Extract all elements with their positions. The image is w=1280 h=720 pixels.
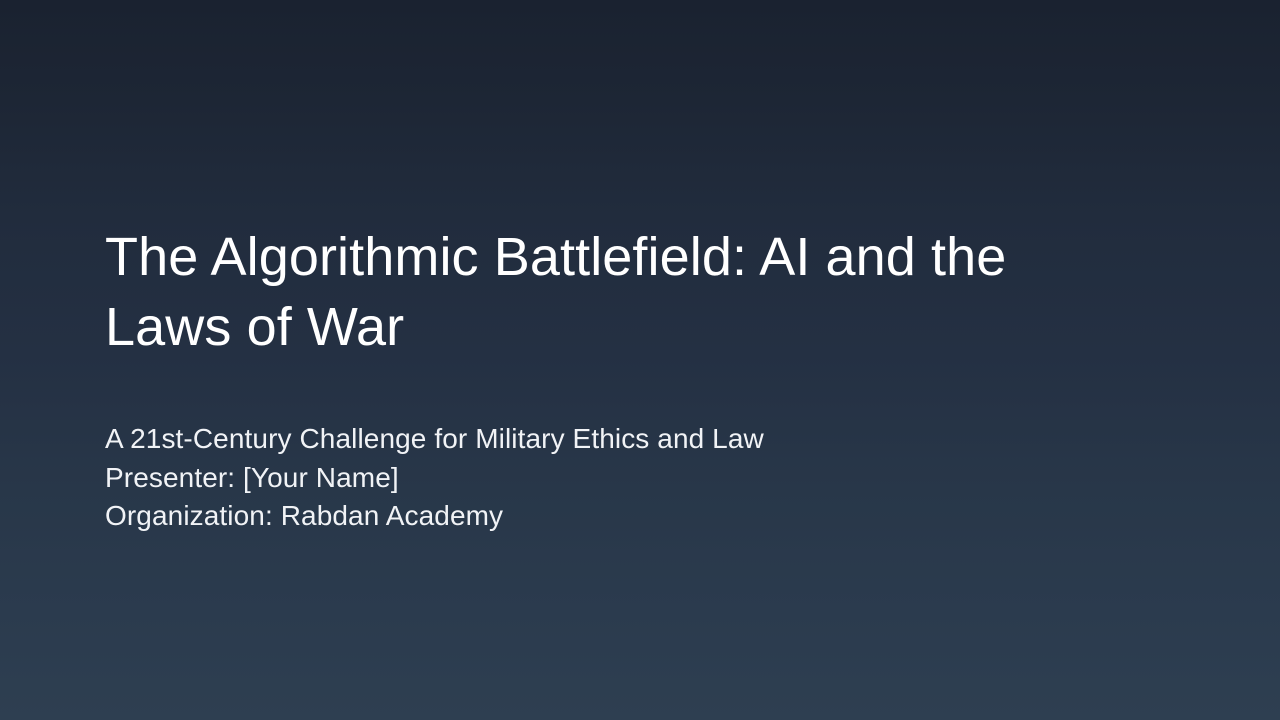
slide-content: The Algorithmic Battlefield: AI and the …: [105, 222, 1165, 536]
page-title: The Algorithmic Battlefield: AI and the …: [105, 222, 1095, 362]
subtitle-line-organization: Organization: Rabdan Academy: [105, 497, 1165, 536]
subtitle-line-presenter: Presenter: [Your Name]: [105, 459, 1165, 498]
subtitle-line-tagline: A 21st-Century Challenge for Military Et…: [105, 420, 1165, 459]
title-block: The Algorithmic Battlefield: AI and the …: [105, 222, 1165, 362]
title-slide: The Algorithmic Battlefield: AI and the …: [0, 0, 1280, 720]
subtitle-block: A 21st-Century Challenge for Military Et…: [105, 420, 1165, 536]
